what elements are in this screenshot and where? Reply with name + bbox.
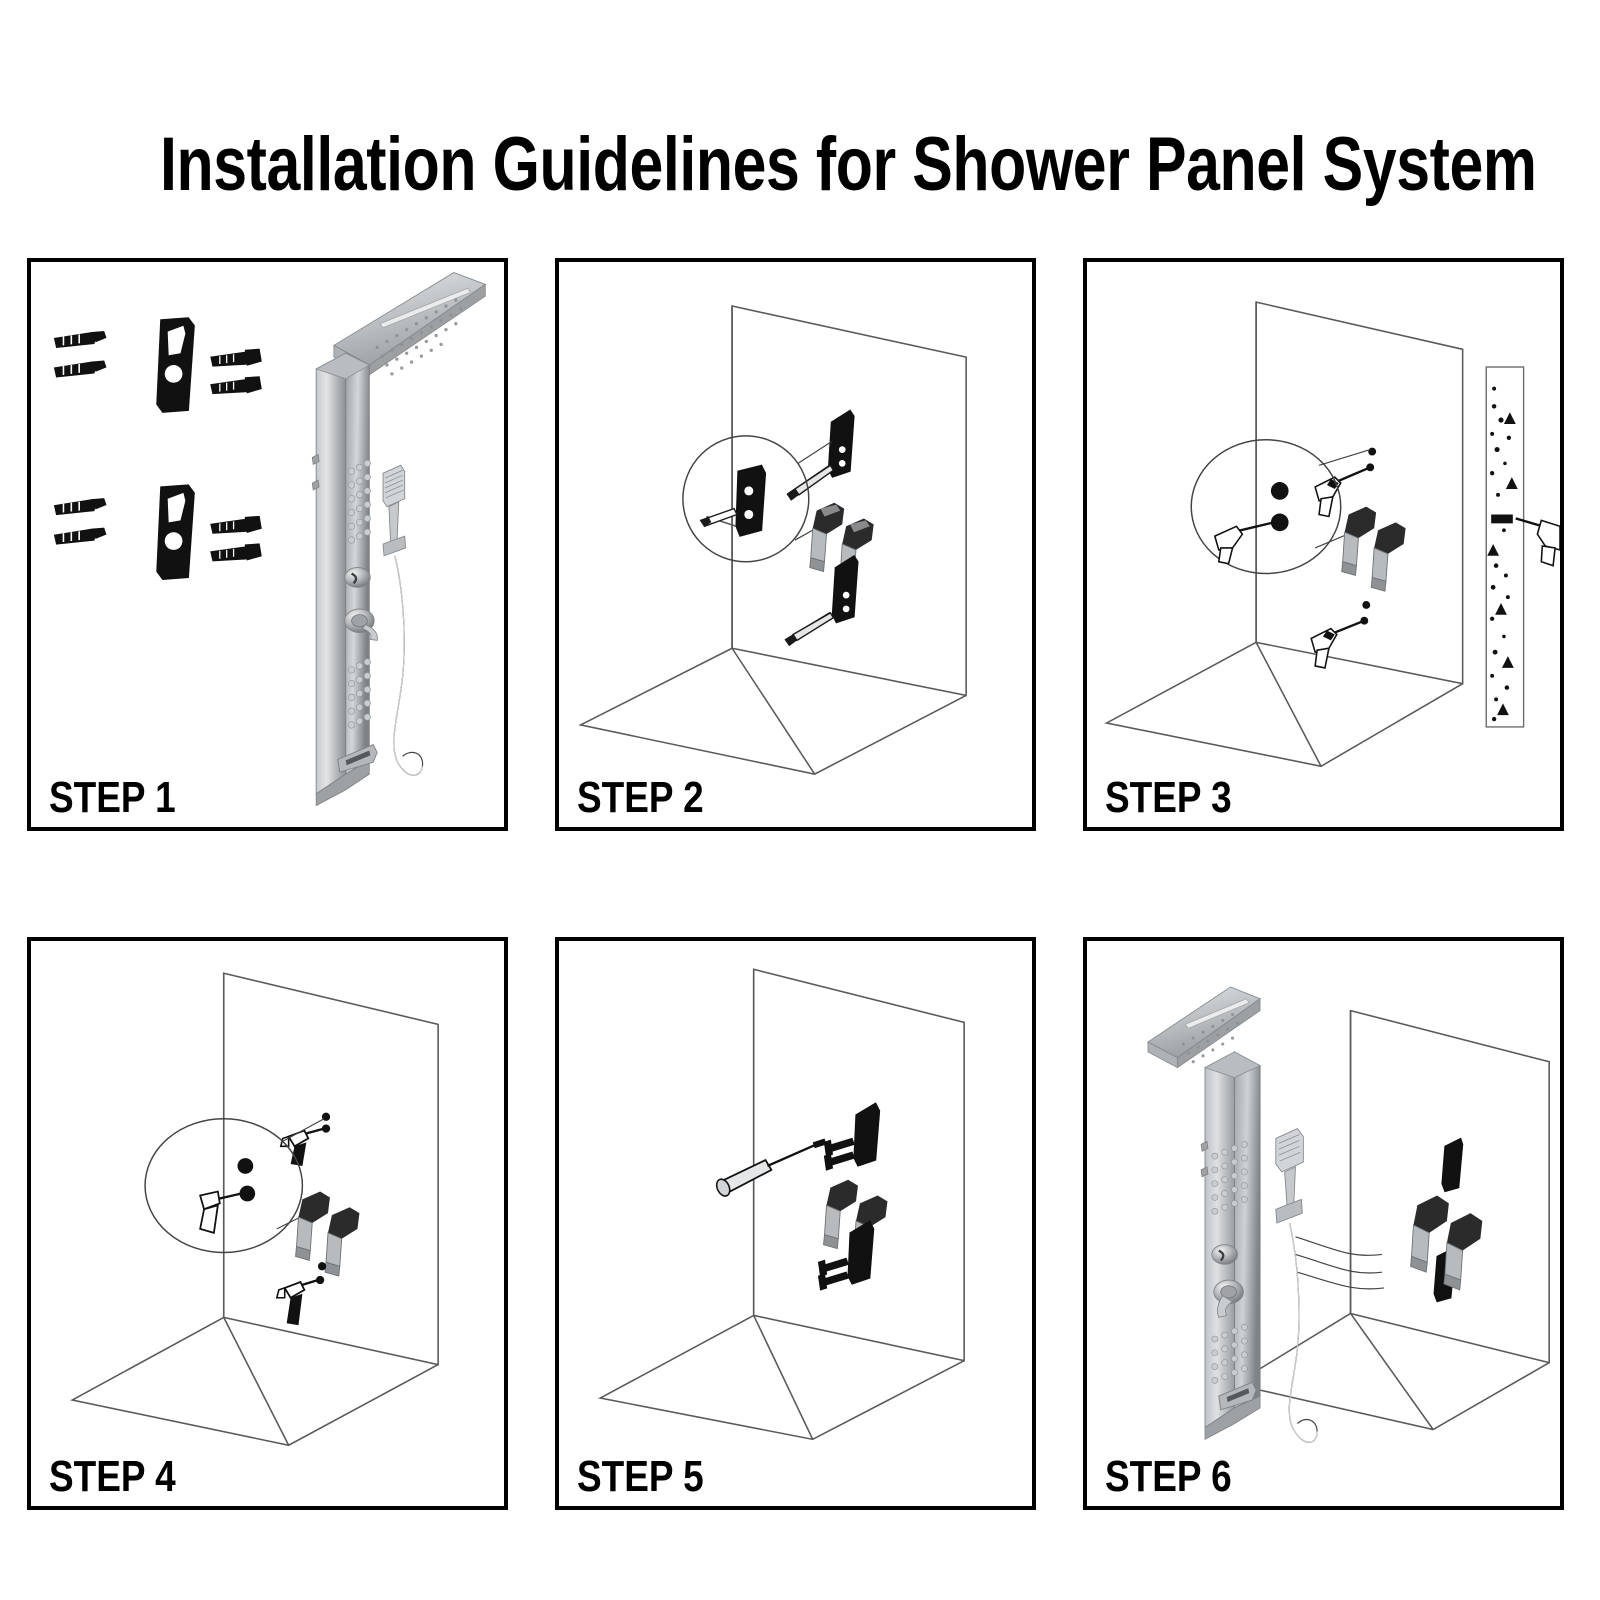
diverter-knob [1212, 1245, 1238, 1265]
step-label-2: STEP 2 [577, 775, 704, 821]
hammer-lower [277, 1262, 326, 1325]
alignment-guide-line [1295, 1237, 1384, 1289]
power-drill-upper [1315, 448, 1376, 517]
drilled-hole [318, 1262, 326, 1270]
mounting-bracket-lower [832, 556, 858, 623]
installation-guide-page: Installation Guidelines for Shower Panel… [0, 0, 1600, 1600]
marking-pencil-lower [785, 613, 833, 646]
diverter-knob [345, 568, 371, 588]
steps-grid: STEP 1 [27, 258, 1565, 1510]
water-supply-elbow [1342, 507, 1376, 576]
wall-anchor-icon [55, 528, 106, 544]
step-5-illustration [559, 941, 1032, 1506]
shower-hose-highlight [394, 556, 423, 775]
hand-shower [1276, 1129, 1304, 1223]
water-supply-elbow [810, 503, 844, 572]
step-2-illustration [559, 262, 1032, 827]
shower-panel-assembly [312, 273, 485, 806]
rain-shower-head [1148, 987, 1260, 1068]
step-6-illustration [1087, 941, 1560, 1506]
screw-icon [211, 377, 261, 394]
mounting-bracket-icon [157, 318, 194, 412]
water-supply-elbow [1444, 1213, 1482, 1290]
step-panel-4: STEP 4 [27, 937, 508, 1510]
step-label-4: STEP 4 [49, 1454, 176, 1500]
mounting-bracket-upper [854, 1103, 880, 1166]
drilled-hole [1271, 482, 1289, 500]
mounting-bracket-icon [157, 485, 194, 579]
step-1-illustration [31, 262, 504, 827]
screw-icon [211, 516, 261, 533]
step-4-illustration [31, 941, 504, 1506]
page-title: Installation Guidelines for Shower Panel… [160, 123, 1440, 207]
magnifier-detail-circle [683, 436, 831, 562]
shower-hose [394, 556, 423, 775]
step-panel-6: STEP 6 [1083, 937, 1564, 1510]
step-panel-5: STEP 5 [555, 937, 1036, 1510]
step-label-6: STEP 6 [1105, 1454, 1232, 1500]
step-label-1: STEP 1 [49, 775, 176, 821]
power-drill-lower [1311, 601, 1370, 668]
step-panel-2: STEP 2 [555, 258, 1036, 831]
screwdriver [714, 1138, 826, 1198]
hammer-upper [281, 1113, 330, 1166]
corner-wall [581, 306, 966, 774]
tile-strip [1486, 367, 1523, 727]
screw-icon [819, 1272, 849, 1290]
screw-icon [825, 1152, 855, 1170]
step-3-illustration [1087, 262, 1560, 827]
marking-pencil-upper [787, 465, 833, 500]
wall-anchor-icon [55, 361, 106, 377]
corner-wall [600, 969, 964, 1439]
shower-hose-highlight [1289, 1223, 1317, 1442]
corner-wall [1107, 302, 1463, 766]
corner-wall [72, 973, 438, 1445]
step-panel-3: STEP 3 [1083, 258, 1564, 831]
shower-hose [1289, 1223, 1317, 1442]
screw-icon [211, 349, 261, 366]
wall-anchor-icon [55, 332, 106, 348]
step-label-3: STEP 3 [1105, 775, 1232, 821]
hardware-set-lower [55, 485, 262, 579]
mounted-bracket-upper [1442, 1138, 1463, 1191]
step-panel-1: STEP 1 [27, 258, 508, 831]
mounting-bracket-upper [828, 410, 854, 477]
drilled-hole [238, 1158, 254, 1174]
shower-panel-assembly [1148, 987, 1317, 1442]
wall-anchor-seated [239, 1186, 255, 1202]
hardware-set-upper [55, 318, 262, 412]
water-supply-elbow [1371, 522, 1405, 591]
wall-anchor-icon [55, 499, 106, 515]
hand-shower [383, 465, 406, 555]
screw-icon [211, 544, 261, 561]
mounting-bracket-lower [848, 1221, 874, 1284]
step-label-5: STEP 5 [577, 1454, 704, 1500]
water-supply-elbow [325, 1207, 359, 1276]
